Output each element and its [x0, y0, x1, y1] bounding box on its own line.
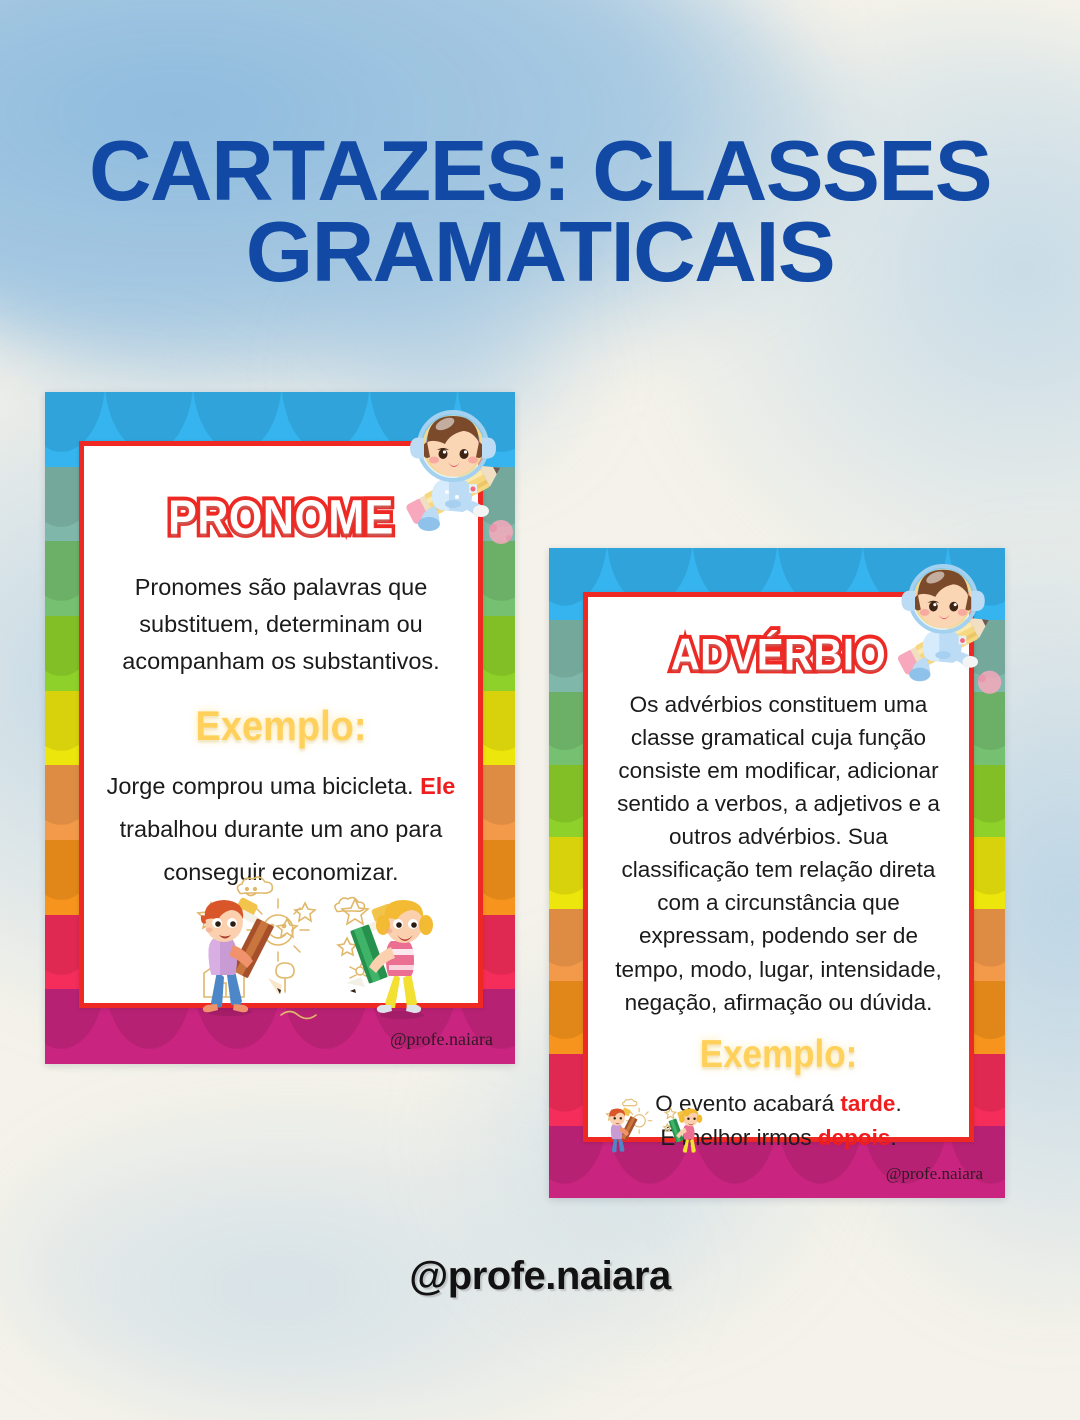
poster-definition-text: Pronomes são palavras que substituem, de… [110, 569, 452, 680]
example-prefix: Jorge comprou uma bicicleta. [107, 773, 420, 799]
astronaut-kid-on-pencil-icon [883, 552, 1005, 700]
page-title-line-1: CARTAZES: CLASSES [0, 132, 1080, 213]
example-line-1-suffix: . [895, 1091, 901, 1116]
example-line-2-highlight: depois [818, 1125, 891, 1150]
page-title: CARTAZES: CLASSES GRAMATICAIS [0, 132, 1080, 294]
two-kids-with-giant-pencils-illustration [598, 1097, 708, 1169]
two-kids-with-giant-pencils-illustration [177, 875, 447, 1045]
example-highlight-word: Ele [420, 773, 455, 799]
poster-card-pronome[interactable]: PRONOME Pronomes são palavras que substi… [45, 392, 515, 1064]
poster-definition-text: Os advérbios constituem uma classe grama… [609, 688, 948, 1019]
example-line-1-highlight: tarde [840, 1091, 895, 1116]
poster-card-adverbio[interactable]: ADVÉRBIO Os advérbios constituem uma cla… [549, 548, 1005, 1198]
page-title-line-2: GRAMATICAIS [0, 213, 1080, 294]
poster-exemplo-label: Exemplo: [588, 1033, 969, 1077]
poster-exemplo-label: Exemplo: [84, 704, 478, 751]
astronaut-kid-on-pencil-icon [391, 398, 515, 550]
footer-handle: @profe.naiara [0, 1254, 1080, 1299]
example-line-2-suffix: . [890, 1125, 896, 1150]
